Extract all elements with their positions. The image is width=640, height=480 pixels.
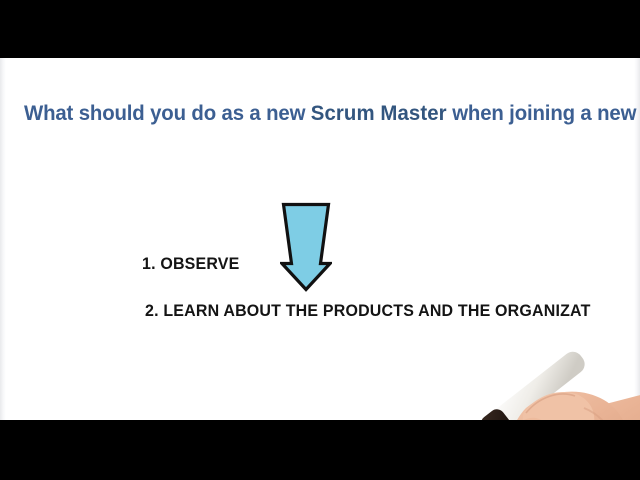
letterbox-top-bar (0, 0, 640, 58)
heading-emphasis-scrum-master: Scrum Master (311, 102, 447, 125)
whiteboard-canvas: What should you do as a new Scrum Master… (0, 58, 640, 420)
heading-text-after: when joining a new team? (447, 102, 640, 125)
heading-text-before: What should you do as a new (24, 102, 311, 125)
list-item: 1. OBSERVE (142, 254, 584, 274)
question-heading: What should you do as a new Scrum Master… (24, 102, 600, 126)
list-item: 2. LEARN ABOUT THE PRODUCTS AND THE ORGA… (145, 301, 584, 321)
canvas-left-edge-shadow (0, 58, 6, 420)
hand-writing-marker-icon (452, 334, 640, 420)
answer-list: 1. OBSERVE 2. LEARN ABOUT THE PRODUCTS A… (142, 254, 612, 321)
letterbox-bottom-bar (0, 420, 640, 480)
video-frame: What should you do as a new Scrum Master… (0, 0, 640, 480)
